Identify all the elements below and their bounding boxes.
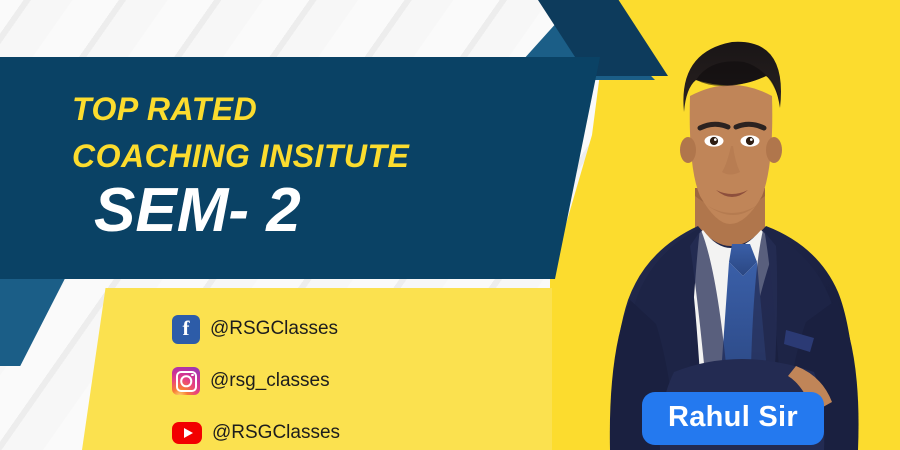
- social-row-youtube[interactable]: @RSGClasses: [172, 418, 502, 448]
- social-row-facebook[interactable]: f @RSGClasses: [172, 314, 502, 344]
- youtube-icon[interactable]: [172, 422, 202, 444]
- headline-line-2: COACHING INSITUTE: [72, 140, 600, 174]
- social-row-instagram[interactable]: @rsg_classes: [172, 366, 502, 396]
- instagram-camera-glyph: [176, 371, 197, 392]
- headline-line-1: TOP RATED: [72, 93, 600, 127]
- promo-banner: TOP RATED COACHING INSITUTE SEM- 2 f @RS…: [0, 0, 900, 450]
- headline-text-group: TOP RATED COACHING INSITUTE SEM- 2: [0, 57, 600, 279]
- instagram-handle[interactable]: @rsg_classes: [210, 370, 330, 392]
- headline-line-3: SEM- 2: [72, 178, 600, 243]
- instagram-icon[interactable]: [172, 367, 200, 395]
- presenter-portrait: [600, 0, 900, 450]
- headline-banner: TOP RATED COACHING INSITUTE SEM- 2: [0, 57, 600, 279]
- presenter-name-badge: Rahul Sir: [642, 392, 824, 445]
- play-triangle-glyph: [184, 428, 193, 438]
- facebook-icon[interactable]: f: [172, 315, 200, 344]
- youtube-handle[interactable]: @RSGClasses: [212, 422, 340, 444]
- facebook-handle[interactable]: @RSGClasses: [210, 318, 338, 340]
- social-links-list: f @RSGClasses @rsg_classes @RSGClasses: [172, 314, 502, 448]
